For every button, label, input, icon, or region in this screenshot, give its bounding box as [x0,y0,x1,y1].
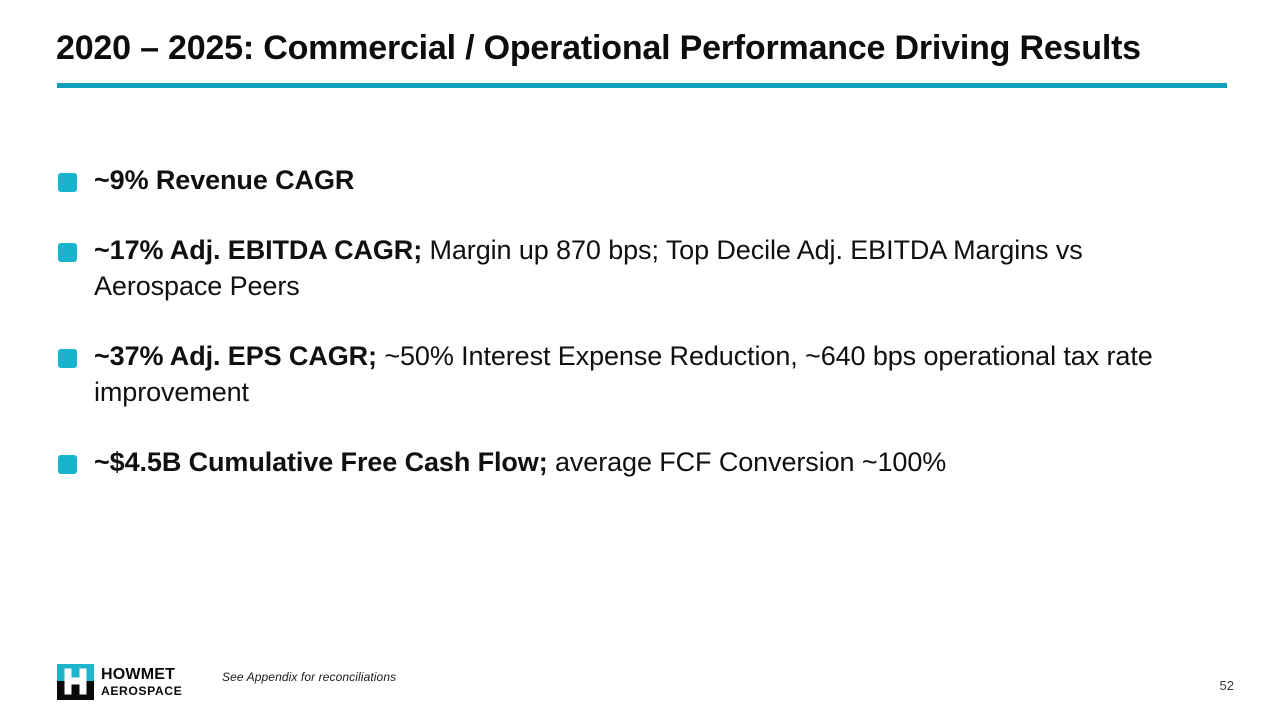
bullet-text: ~9% Revenue CAGR [94,162,1177,198]
footnote-text: See Appendix for reconciliations [222,670,396,684]
page-title: 2020 – 2025: Commercial / Operational Pe… [56,26,1236,70]
bullet-lead: ~$4.5B Cumulative Free Cash Flow; [94,447,548,477]
bullet-list: ~9% Revenue CAGR ~17% Adj. EBITDA CAGR; … [57,162,1177,480]
howmet-aerospace-logo: HOWMET AEROSPACE [57,664,182,700]
bullet-rest: average FCF Conversion ~100% [548,447,947,477]
bullet-square-icon [58,349,77,368]
bullet-lead: ~9% Revenue CAGR [94,165,354,195]
howmet-mark-icon [57,664,94,700]
bullet-square-icon [58,243,77,262]
bullet-text: ~$4.5B Cumulative Free Cash Flow; averag… [94,444,1177,480]
list-item: ~17% Adj. EBITDA CAGR; Margin up 870 bps… [57,232,1177,304]
list-item: ~9% Revenue CAGR [57,162,1177,198]
bullet-text: ~37% Adj. EPS CAGR; ~50% Interest Expens… [94,338,1177,410]
title-underline-rule [57,83,1227,88]
bullet-lead: ~37% Adj. EPS CAGR; [94,341,377,371]
slide-canvas: 2020 – 2025: Commercial / Operational Pe… [0,0,1280,720]
logo-wordmark: HOWMET AEROSPACE [101,667,182,697]
list-item: ~$4.5B Cumulative Free Cash Flow; averag… [57,444,1177,480]
bullet-square-icon [58,173,77,192]
list-item: ~37% Adj. EPS CAGR; ~50% Interest Expens… [57,338,1177,410]
logo-word-howmet: HOWMET [101,667,182,683]
page-number: 52 [1220,678,1234,693]
bullet-square-icon [58,455,77,474]
logo-word-aerospace: AEROSPACE [101,685,182,697]
bullet-text: ~17% Adj. EBITDA CAGR; Margin up 870 bps… [94,232,1177,304]
bullet-lead: ~17% Adj. EBITDA CAGR; [94,235,422,265]
